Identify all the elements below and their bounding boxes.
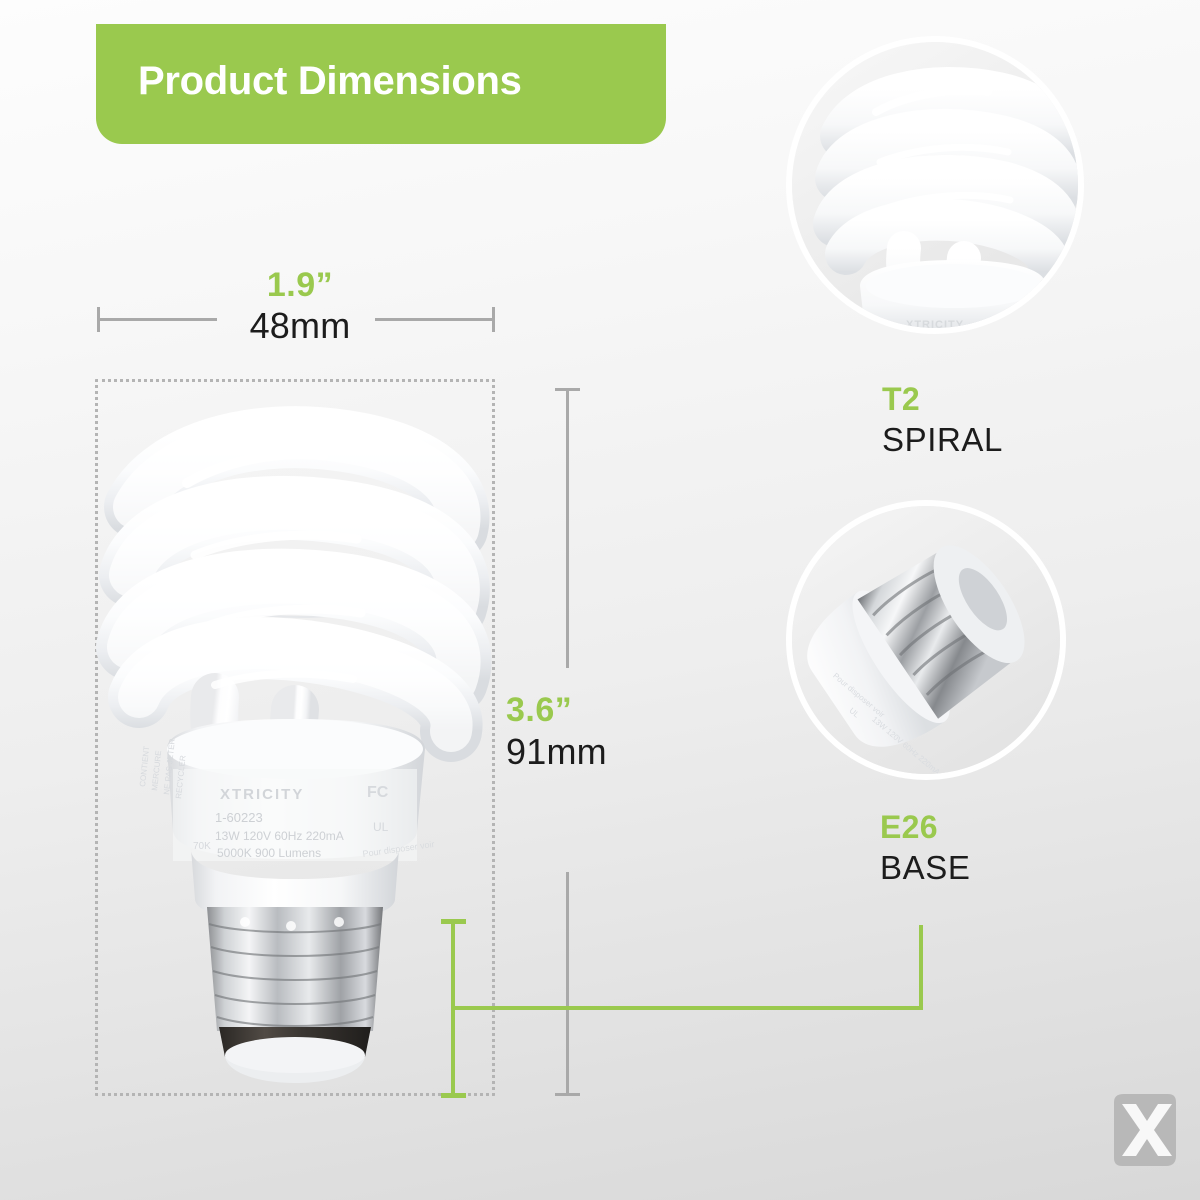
width-inches-value: 1.9” bbox=[267, 266, 333, 304]
spiral-callout-code: T2 bbox=[882, 383, 1003, 415]
main-product-image: XTRICITY 1-60223 13W 120V 60Hz 220mA 500… bbox=[95, 379, 495, 1096]
svg-text:CONTIENT: CONTIENT bbox=[138, 745, 151, 787]
page-title: Product Dimensions bbox=[96, 59, 522, 104]
base-callout-type: BASE bbox=[880, 851, 970, 884]
svg-text:XTRICITY: XTRICITY bbox=[220, 786, 304, 803]
svg-text:MERCURE: MERCURE bbox=[150, 750, 163, 791]
base-leader-vertical-right bbox=[919, 925, 923, 1010]
height-dimension-bar-bottom bbox=[566, 872, 569, 1094]
xtricity-x-logo-icon bbox=[1106, 1092, 1178, 1178]
width-millimeters-value: 48mm bbox=[195, 308, 405, 344]
height-dimension-label: 3.6” 91mm bbox=[506, 693, 607, 770]
svg-text:13W 120V 60Hz 220mA: 13W 120V 60Hz 220mA bbox=[215, 829, 344, 843]
base-callout-code: E26 bbox=[880, 811, 970, 843]
svg-text:70K: 70K bbox=[193, 841, 211, 852]
svg-text:FC: FC bbox=[1010, 313, 1025, 325]
svg-text:5000K 900 Lumens: 5000K 900 Lumens bbox=[217, 846, 321, 860]
base-leader-cap-bottom bbox=[441, 1093, 466, 1098]
spiral-callout-label: T2 SPIRAL bbox=[882, 383, 1003, 456]
width-dimension-label: 1.9” 48mm bbox=[195, 268, 405, 344]
base-callout-label: E26 BASE bbox=[880, 811, 970, 884]
spiral-callout-type: SPIRAL bbox=[882, 423, 1003, 456]
svg-text:UL: UL bbox=[373, 820, 389, 834]
height-dimension-bar-top bbox=[566, 390, 569, 668]
page-title-banner: Product Dimensions bbox=[96, 24, 666, 144]
svg-text:XTRICITY: XTRICITY bbox=[906, 319, 964, 328]
base-leader-horizontal bbox=[451, 1006, 923, 1010]
infographic-canvas: Product Dimensions bbox=[0, 0, 1200, 1200]
height-inches-value: 3.6” bbox=[506, 693, 607, 727]
height-millimeters-value: 91mm bbox=[506, 734, 607, 770]
base-callout-circle: Pour disposer voir 13W 120V 60Hz 220mA U… bbox=[786, 500, 1066, 780]
height-dimension-cap-bottom bbox=[555, 1093, 580, 1096]
width-dimension-cap-right bbox=[492, 307, 495, 332]
svg-text:FC: FC bbox=[367, 784, 389, 801]
spiral-callout-circle: XTRICITY FC bbox=[786, 36, 1084, 334]
svg-text:1-60223: 1-60223 bbox=[215, 810, 263, 825]
